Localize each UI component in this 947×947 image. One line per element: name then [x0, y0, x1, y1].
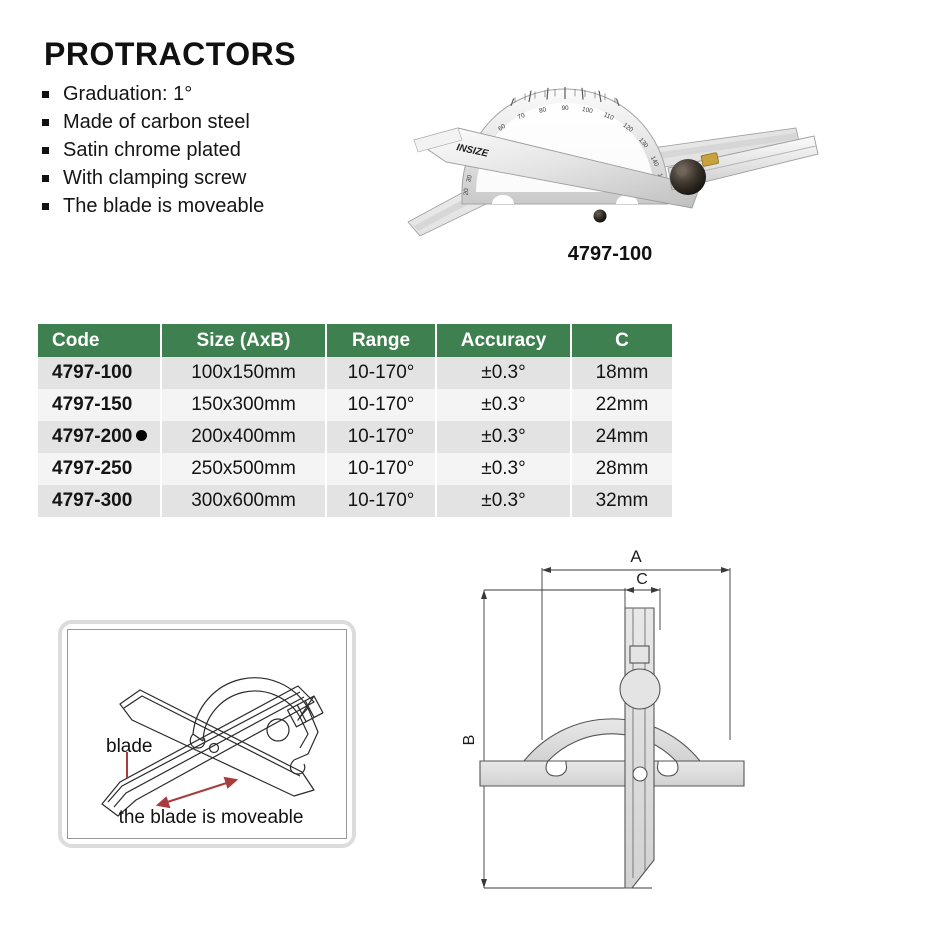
- feature-label: Made of carbon steel: [63, 111, 250, 133]
- dimension-label-b: B: [462, 735, 478, 746]
- feature-label: Satin chrome plated: [63, 139, 241, 161]
- column-header-c: C: [571, 324, 672, 357]
- cell-code: 4797-200: [38, 421, 161, 453]
- cell-range: 10-170°: [326, 453, 436, 485]
- cell-code: 4797-250: [38, 453, 161, 485]
- code-value: 4797-250: [52, 458, 132, 479]
- cell-c: 18mm: [571, 357, 672, 389]
- feature-item: The blade is moveable: [40, 192, 264, 220]
- cell-accuracy: ±0.3°: [436, 485, 571, 517]
- page-title: PROTRACTORS: [44, 36, 296, 73]
- code-value: 4797-300: [52, 490, 132, 511]
- pivot-screw: [594, 210, 607, 223]
- cell-code: 4797-300: [38, 485, 161, 517]
- product-caption: 4797-100: [400, 243, 820, 266]
- protractor-section-view: [480, 608, 744, 888]
- code-value: 4797-200: [52, 426, 132, 447]
- cell-size: 150x300mm: [161, 389, 326, 421]
- bullet-square-icon: [42, 91, 49, 98]
- table-row: 4797-150 150x300mm 10-170° ±0.3° 22mm: [38, 389, 672, 421]
- table-row: 4797-250 250x500mm 10-170° ±0.3° 28mm: [38, 453, 672, 485]
- cell-range: 10-170°: [326, 389, 436, 421]
- cell-size: 200x400mm: [161, 421, 326, 453]
- blade-motion-arrow: [158, 778, 236, 807]
- cell-c: 32mm: [571, 485, 672, 517]
- bullet-square-icon: [42, 175, 49, 182]
- bullet-square-icon: [42, 147, 49, 154]
- feature-item: Satin chrome plated: [40, 136, 264, 164]
- blade-panel-caption: the blade is moveable: [62, 807, 360, 829]
- blade-label: blade: [106, 736, 153, 758]
- feature-label: The blade is moveable: [63, 195, 264, 217]
- table-row: 4797-300 300x600mm 10-170° ±0.3° 32mm: [38, 485, 672, 517]
- cell-accuracy: ±0.3°: [436, 421, 571, 453]
- code-value: 4797-150: [52, 394, 132, 415]
- bullet-square-icon: [42, 119, 49, 126]
- clamping-knob: [670, 159, 706, 195]
- column-header-code: Code: [38, 324, 161, 357]
- cell-accuracy: ±0.3°: [436, 453, 571, 485]
- specification-table: Code Size (AxB) Range Accuracy C 4797-10…: [38, 324, 672, 517]
- feature-list: Graduation: 1° Made of carbon steel Sati…: [40, 80, 264, 220]
- technical-dimension-drawing: A C B: [462, 540, 762, 935]
- feature-item: Made of carbon steel: [40, 108, 264, 136]
- code-value: 4797-100: [52, 362, 132, 383]
- table-row: 4797-200 200x400mm 10-170° ±0.3° 24mm: [38, 421, 672, 453]
- cell-range: 10-170°: [326, 357, 436, 389]
- column-header-accuracy: Accuracy: [436, 324, 571, 357]
- cell-range: 10-170°: [326, 421, 436, 453]
- cell-accuracy: ±0.3°: [436, 357, 571, 389]
- selected-dot-marker: [136, 430, 147, 441]
- svg-text:20: 20: [463, 188, 471, 196]
- column-header-size: Size (AxB): [161, 324, 326, 357]
- bullet-square-icon: [42, 203, 49, 210]
- svg-text:90: 90: [561, 105, 569, 112]
- cell-size: 250x500mm: [161, 453, 326, 485]
- column-header-range: Range: [326, 324, 436, 357]
- protractor-product-photo: 90 80 100 70 110 60 120 50 130 40 140 30…: [400, 40, 820, 240]
- feature-item: With clamping screw: [40, 164, 264, 192]
- feature-item: Graduation: 1°: [40, 80, 264, 108]
- blade-illustration-panel: blade the blade is moveable: [58, 620, 356, 848]
- table-header-row: Code Size (AxB) Range Accuracy C: [38, 324, 672, 357]
- product-photo-block: 90 80 100 70 110 60 120 50 130 40 140 30…: [400, 40, 820, 280]
- cell-size: 100x150mm: [161, 357, 326, 389]
- cell-c: 24mm: [571, 421, 672, 453]
- cell-accuracy: ±0.3°: [436, 389, 571, 421]
- cell-range: 10-170°: [326, 485, 436, 517]
- cell-code: 4797-150: [38, 389, 161, 421]
- dimension-label-c: C: [636, 571, 648, 588]
- dimension-label-a: A: [630, 547, 642, 566]
- cell-size: 300x600mm: [161, 485, 326, 517]
- cell-code: 4797-100: [38, 357, 161, 389]
- feature-label: With clamping screw: [63, 167, 246, 189]
- feature-label: Graduation: 1°: [63, 83, 192, 105]
- cell-c: 22mm: [571, 389, 672, 421]
- cell-c: 28mm: [571, 453, 672, 485]
- table-row: 4797-100 100x150mm 10-170° ±0.3° 18mm: [38, 357, 672, 389]
